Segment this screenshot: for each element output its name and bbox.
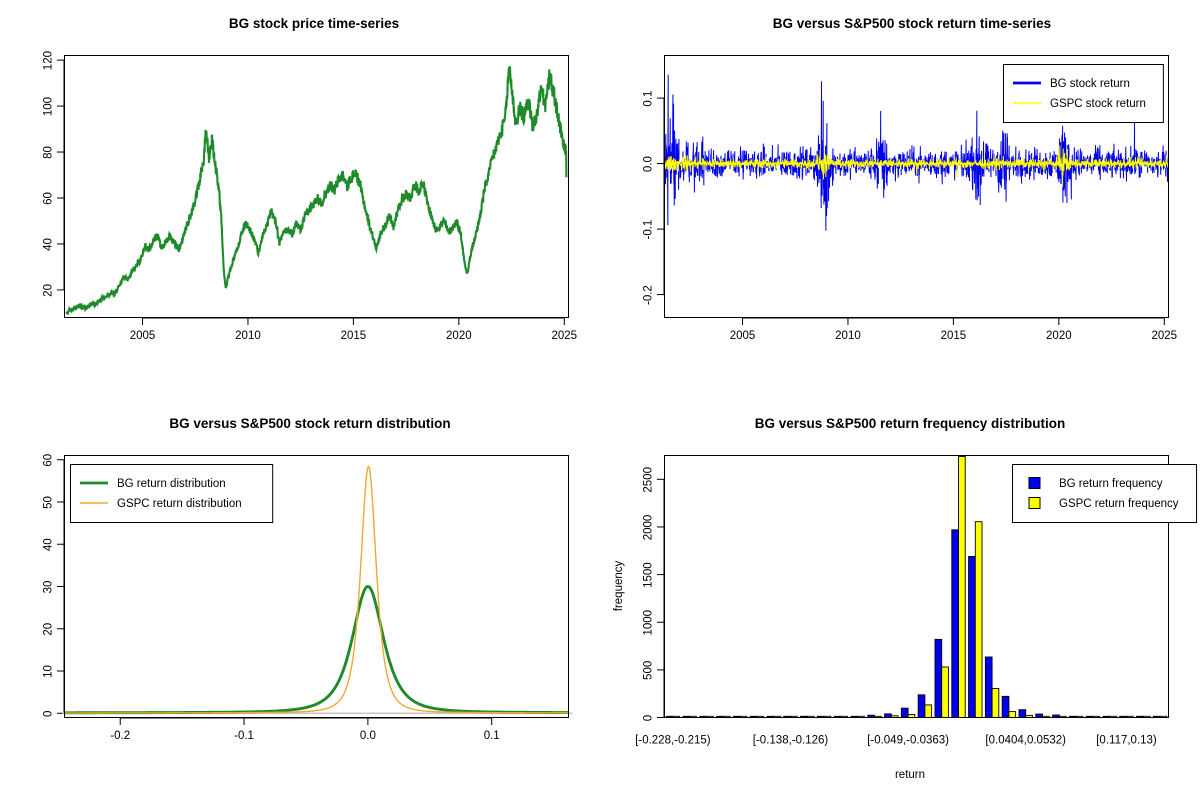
- panel-hist-yaxis-label: 0: [643, 715, 655, 721]
- hist-bar: [959, 456, 966, 717]
- hist-bar: [985, 657, 992, 718]
- panel-return-frequency: BG versus S&P500 return frequency distri…: [600, 400, 1200, 800]
- hist-bar: [1019, 710, 1026, 718]
- panel-hist-yaxis-label: 2000: [643, 515, 655, 541]
- panel-hist-yaxis-label: 2500: [643, 467, 655, 493]
- hist-bar: [935, 639, 942, 717]
- density-legend-label: GSPC return distribution: [117, 498, 242, 510]
- bg-density-curve: [65, 586, 569, 712]
- panel-hist-yaxis-label: 1500: [643, 562, 655, 588]
- panel-price-xaxis-label: 2015: [341, 330, 367, 342]
- panel-price-xaxis-label: 2020: [446, 330, 472, 342]
- panel-returns-title: BG versus S&P500 stock return time-serie…: [773, 16, 1051, 31]
- panel-hist-xtick-label: [-0.228,-0.215): [635, 735, 711, 747]
- panel-returns-yaxis-label: 0.1: [643, 91, 655, 107]
- hist-bar: [942, 667, 949, 717]
- panel-density-yaxis-label: 10: [43, 665, 55, 678]
- hist-legend-swatch: [1029, 478, 1040, 489]
- panel-return-timeseries: BG versus S&P500 stock return time-serie…: [600, 0, 1200, 400]
- hist-bar: [925, 705, 932, 718]
- panel-returns-xaxis-label: 2020: [1046, 330, 1072, 342]
- panel-density-xaxis-label: 0.1: [484, 730, 500, 742]
- panel-price-yaxis-label: 120: [43, 51, 55, 70]
- density-legend-label: BG return distribution: [117, 478, 226, 490]
- panel-returns-axes: -0.2-0.10.00.120052010201520202025: [643, 91, 1178, 342]
- panel-returns-yaxis-label: 0.0: [643, 156, 655, 172]
- panel-returns-xaxis-label: 2005: [730, 330, 756, 342]
- panel-hist-xtick-label: [-0.049,-0.0363): [867, 735, 949, 747]
- panel-returns-xaxis-label: 2015: [941, 330, 967, 342]
- returns-legend-label: GSPC stock return: [1050, 98, 1146, 110]
- hist-bar: [992, 688, 999, 717]
- panel-returns-xaxis-label: 2025: [1151, 330, 1177, 342]
- panel-density-yaxis-label: 0: [43, 711, 55, 717]
- panel-density-yaxis-label: 40: [43, 538, 55, 551]
- density-legend-box[interactable]: [71, 465, 273, 523]
- panel-hist-ylabel: frequency: [613, 561, 625, 612]
- panel-price-plot-box: [65, 56, 569, 318]
- hist-bar: [952, 530, 959, 718]
- panel-price-xaxis-label: 2025: [551, 330, 577, 342]
- hist-legend-swatch: [1029, 498, 1040, 509]
- hist-legend-box[interactable]: [1013, 465, 1197, 523]
- figure-canvas: BG stock price time-series 2040608010012…: [0, 0, 1200, 800]
- panel-returns-svg: BG versus S&P500 stock return time-serie…: [600, 0, 1200, 400]
- panel-price-yaxis-label: 20: [43, 284, 55, 297]
- panel-hist-xtick-label: [0.0404,0.0532): [985, 735, 1066, 747]
- hist-bar: [901, 708, 908, 717]
- panel-hist-yaxis-label: 1000: [643, 610, 655, 636]
- panel-density-yaxis-label: 20: [43, 623, 55, 636]
- returns-legend-box[interactable]: [1004, 65, 1164, 123]
- panel-density-yaxis-label: 60: [43, 454, 55, 467]
- panel-price-title: BG stock price time-series: [229, 16, 399, 31]
- hist-bar: [1009, 712, 1016, 718]
- panel-price-axes: 2040608010012020052010201520202025: [43, 51, 578, 342]
- panel-density-xaxis-label: -0.1: [234, 730, 254, 742]
- panel-density-xaxis-label: -0.2: [110, 730, 130, 742]
- panel-hist-legend[interactable]: BG return frequencyGSPC return frequency: [1013, 465, 1197, 523]
- panel-price-yaxis-label: 40: [43, 238, 55, 251]
- panel-hist-yaxis-label: 500: [643, 661, 655, 680]
- panel-returns-yaxis-label: -0.1: [643, 220, 655, 240]
- hist-legend-label: GSPC return frequency: [1059, 498, 1179, 510]
- panel-hist-title: BG versus S&P500 return frequency distri…: [755, 416, 1066, 431]
- panel-density-title: BG versus S&P500 stock return distributi…: [169, 416, 450, 431]
- hist-bar: [969, 556, 976, 717]
- bg-price-line: [67, 66, 567, 314]
- panel-density-svg: BG versus S&P500 stock return distributi…: [0, 400, 600, 800]
- panel-hist-svg: BG versus S&P500 return frequency distri…: [600, 400, 1200, 800]
- hist-bar: [918, 695, 925, 718]
- panel-return-distribution: BG versus S&P500 stock return distributi…: [0, 400, 600, 800]
- panel-bg-stock-price: BG stock price time-series 2040608010012…: [0, 0, 600, 400]
- hist-bar: [1002, 696, 1009, 717]
- panel-price-yaxis-label: 80: [43, 146, 55, 159]
- hist-bar: [1036, 714, 1043, 717]
- returns-legend-label: BG stock return: [1050, 78, 1130, 90]
- panel-price-series: [67, 66, 567, 314]
- panel-density-legend[interactable]: BG return distributionGSPC return distri…: [71, 465, 273, 523]
- panel-price-yaxis-label: 60: [43, 192, 55, 205]
- panel-price-xaxis-label: 2005: [130, 330, 156, 342]
- panel-returns-yaxis-label: -0.2: [643, 285, 655, 305]
- panel-hist-xlabel: return: [895, 769, 925, 781]
- panel-density-yaxis-label: 50: [43, 496, 55, 509]
- panel-density-xaxis-label: 0.0: [360, 730, 376, 742]
- panel-returns-legend[interactable]: BG stock returnGSPC stock return: [1004, 65, 1164, 123]
- panel-returns-xaxis-label: 2010: [835, 330, 861, 342]
- panel-price-yaxis-label: 100: [43, 97, 55, 116]
- panel-hist-xtick-label: [-0.138,-0.126): [753, 735, 829, 747]
- panel-price-svg: BG stock price time-series 2040608010012…: [0, 0, 600, 400]
- panel-density-yaxis-label: 30: [43, 581, 55, 594]
- panel-price-xaxis-label: 2010: [235, 330, 261, 342]
- hist-bar: [885, 714, 892, 718]
- hist-bar: [975, 522, 982, 718]
- hist-legend-label: BG return frequency: [1059, 478, 1163, 490]
- panel-hist-xtick-label: [0.117,0.13): [1096, 735, 1157, 747]
